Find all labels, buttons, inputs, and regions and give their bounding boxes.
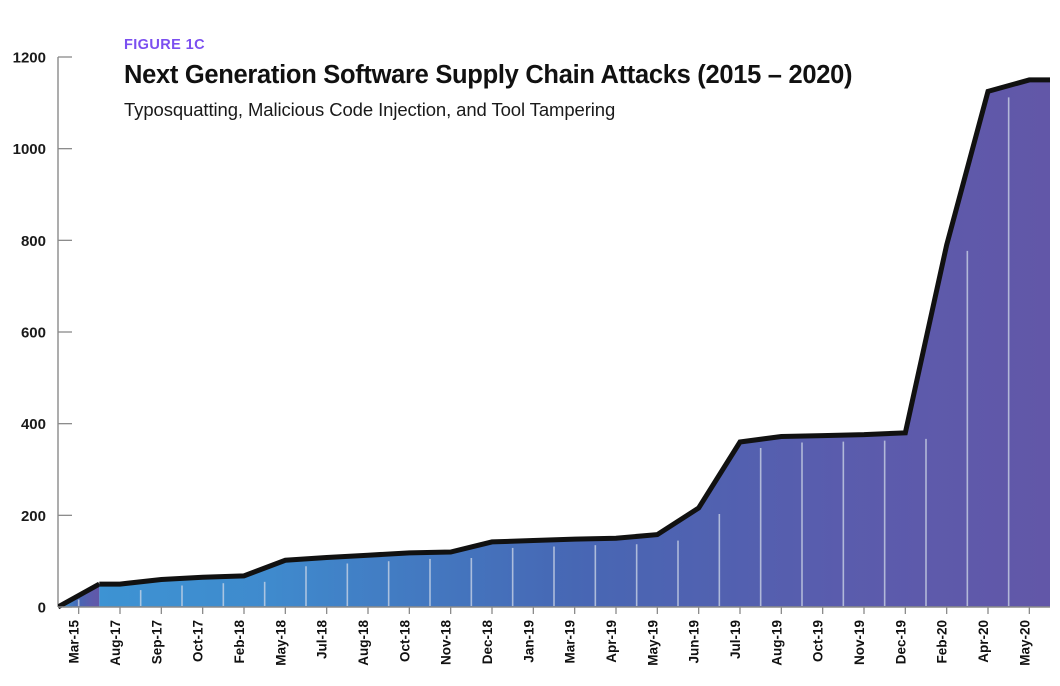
- x-axis-tick-label: Oct-18: [397, 620, 412, 663]
- x-axis-tick-label: Aug-18: [356, 620, 371, 666]
- y-axis-tick-label: 0: [38, 600, 46, 617]
- y-axis-tick-label: 600: [21, 325, 46, 342]
- area-series: [58, 80, 1050, 607]
- x-axis-tick-label: Mar-19: [563, 620, 578, 664]
- x-axis-tick-label: Mar-15: [67, 620, 82, 664]
- x-axis-tick-label: Feb-20: [935, 620, 950, 664]
- x-axis-tick-label: Dec-19: [893, 620, 908, 664]
- y-axis: 020040060080010001200: [13, 50, 72, 617]
- x-axis-tick-label: Jun-19: [687, 620, 702, 664]
- x-axis-tick-label: Jul-18: [315, 620, 330, 660]
- figure-1c-chart: FIGURE 1C Next Generation Software Suppl…: [0, 0, 1060, 686]
- x-axis-tick-label: May-20: [1017, 620, 1032, 666]
- x-axis-tick-label: Nov-19: [852, 620, 867, 665]
- x-axis-tick-label: Feb-18: [232, 620, 247, 664]
- y-axis-tick-label: 1000: [13, 141, 46, 158]
- x-axis-tick-label: Jan-19: [521, 620, 536, 663]
- x-axis-tick-label: Sep-17: [149, 620, 164, 664]
- y-axis-tick-label: 800: [21, 233, 46, 250]
- x-axis-tick-label: Apr-20: [976, 620, 991, 663]
- x-axis-tick-label: Aug-19: [769, 620, 784, 666]
- x-axis: Mar-15Aug-17Sep-17Oct-17Feb-18May-18Jul-…: [58, 607, 1050, 666]
- x-axis-tick-label: Oct-19: [811, 620, 826, 662]
- x-axis-tick-label: Dec-18: [480, 620, 495, 665]
- x-axis-tick-label: May-19: [645, 620, 660, 666]
- x-axis-tick-label: Oct-17: [191, 620, 206, 662]
- x-axis-tick-label: Aug-17: [108, 620, 123, 666]
- x-axis-tick-label: May-18: [273, 620, 288, 666]
- x-axis-tick-label: Nov-18: [439, 620, 454, 666]
- y-axis-tick-label: 1200: [13, 50, 46, 67]
- x-axis-tick-label: Jul-19: [728, 620, 743, 659]
- y-axis-tick-label: 400: [21, 416, 46, 433]
- y-axis-tick-label: 200: [21, 508, 46, 525]
- area-chart-plot: 020040060080010001200 Mar-15Aug-17Sep-17…: [0, 0, 1060, 686]
- x-axis-tick-label: Apr-19: [604, 620, 619, 663]
